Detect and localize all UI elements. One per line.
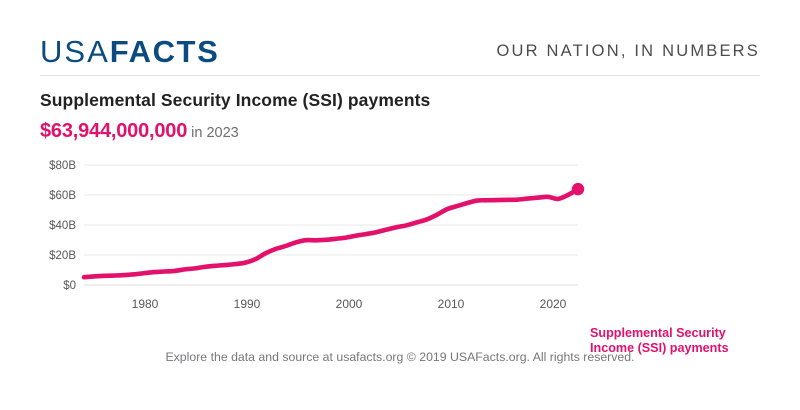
logo-usa-text: USA [40,34,110,69]
series-line-ssi-payments [84,189,578,277]
y-tick-label-80b: $80B [49,160,76,172]
page-header: USAFACTS OUR NATION, IN NUMBERS [40,28,760,74]
y-axis-labels: $80B $60B $40B $20B $0 [49,160,76,292]
page-title: Supplemental Security Income (SSI) payme… [40,90,430,111]
series-label-line-1: Supplemental Security [590,326,780,341]
y-tick-label-20b: $20B [49,250,76,262]
x-tick-label-1980: 1980 [132,297,159,311]
header-divider [40,75,760,76]
series-endpoint-marker[interactable] [572,183,584,195]
tagline: OUR NATION, IN NUMBERS [496,42,760,61]
gridlines [84,165,578,285]
usafacts-chart-card: USAFACTS OUR NATION, IN NUMBERS Suppleme… [0,0,800,410]
headline-value: $63,944,000,000 [40,120,187,142]
x-tick-label-2020: 2020 [540,297,567,311]
x-tick-label-1990: 1990 [234,297,261,311]
y-tick-label-60b: $60B [49,190,76,202]
y-tick-label-40b: $40B [49,220,76,232]
y-tick-label-0: $0 [63,280,76,292]
headline-value-year: in 2023 [191,125,239,141]
chart-container: $80B $60B $40B $20B $0 1980 1990 2000 20… [0,150,800,315]
headline-value-row: $63,944,000,000in 2023 [40,120,239,143]
x-tick-label-2000: 2000 [336,297,363,311]
usafacts-logo[interactable]: USAFACTS [40,36,219,67]
x-tick-label-2010: 2010 [438,297,465,311]
footer-attribution: Explore the data and source at usafacts.… [0,350,800,364]
x-axis-labels: 1980 1990 2000 2010 2020 [132,297,567,311]
line-chart: $80B $60B $40B $20B $0 1980 1990 2000 20… [0,150,800,315]
logo-facts-text: FACTS [110,34,220,69]
